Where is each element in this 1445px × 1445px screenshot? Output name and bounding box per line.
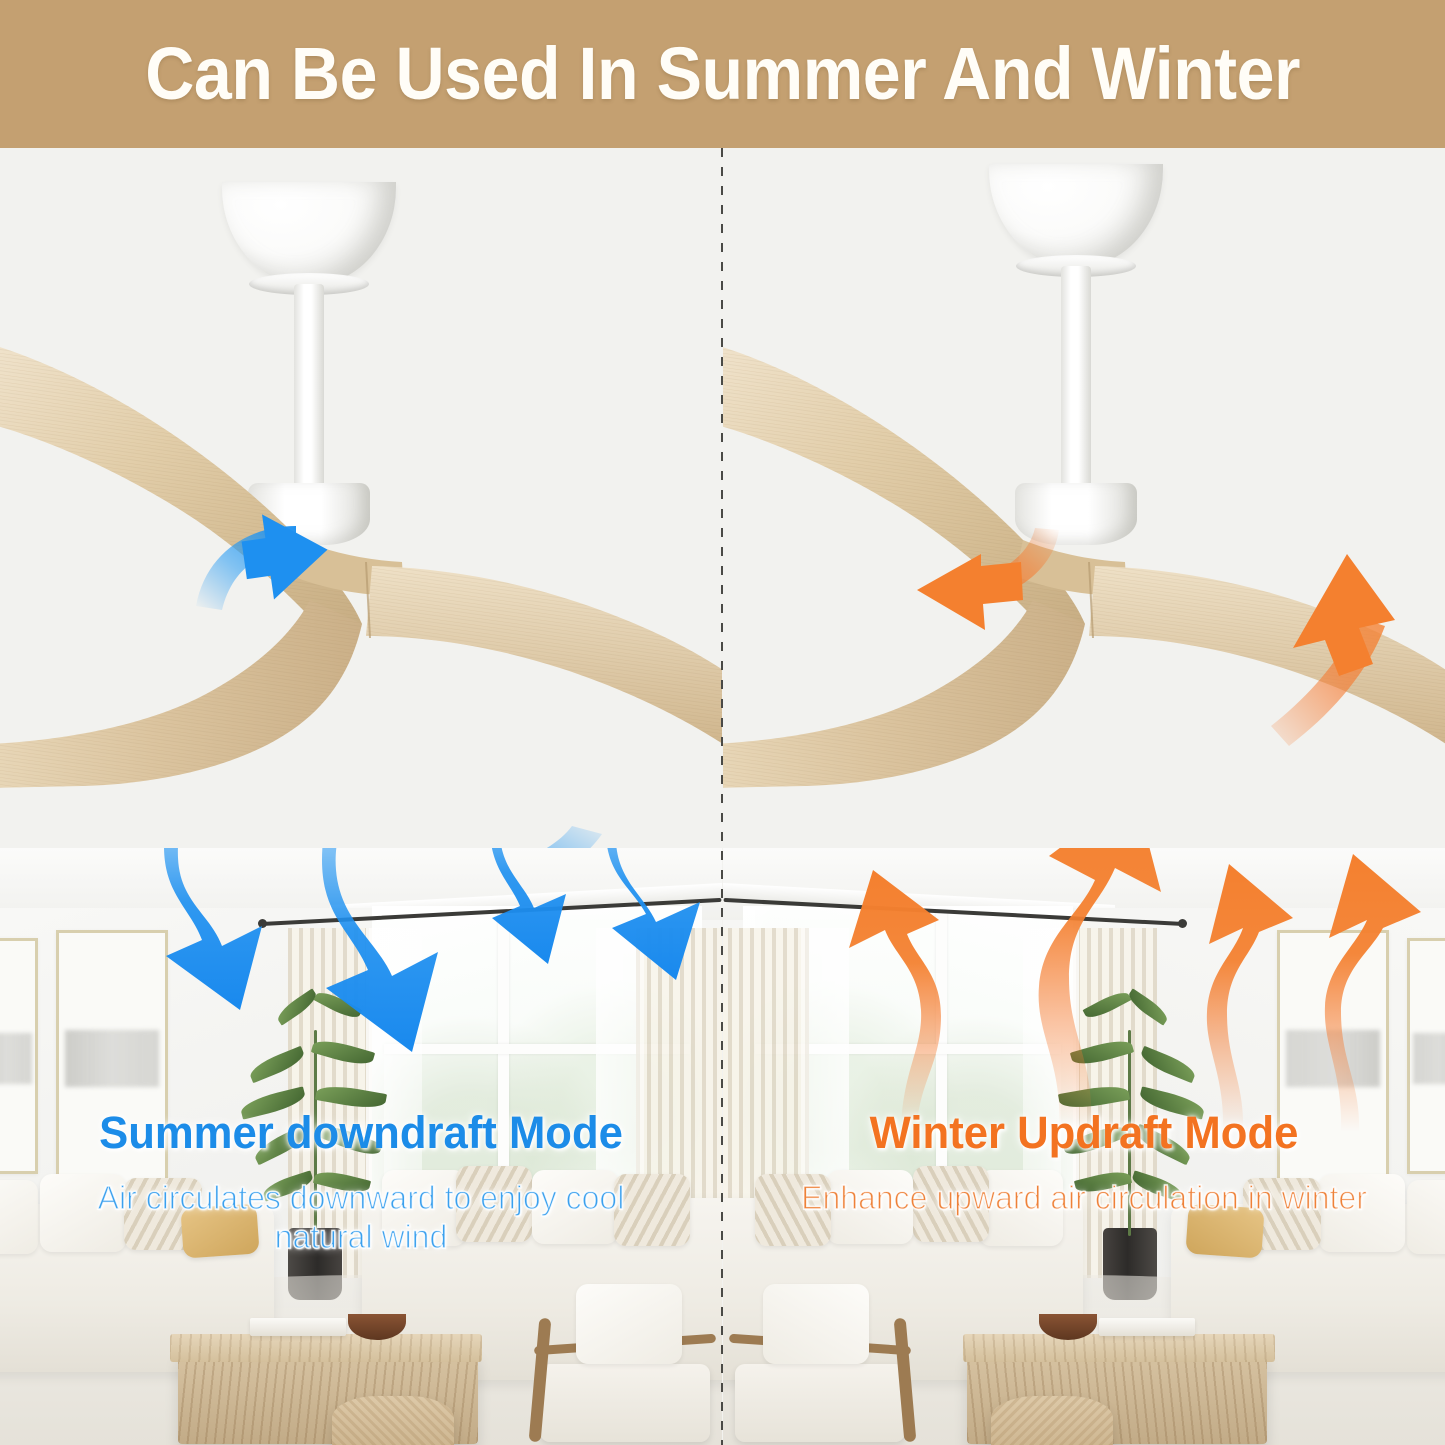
ottoman-pouf [991,1396,1113,1445]
accent-chair-cushion [763,1284,869,1364]
coffee-table-top [963,1334,1275,1362]
living-room-winter: Winter Updraft Mode Enhance upward air c… [723,848,1445,1445]
caption-title-summer: Summer downdraft Mode [11,1110,711,1155]
caption-subtitle-summer: Air circulates downward to enjoy cool na… [11,1179,711,1257]
panel-winter: Winter Updraft Mode Enhance upward air c… [723,148,1445,1445]
caption-block-winter: Winter Updraft Mode Enhance upward air c… [723,1110,1445,1218]
table-books [250,1318,346,1336]
accent-chair-seat [540,1364,710,1442]
fan-blades-winter [723,148,1445,848]
fan-scene-summer [0,148,722,848]
panel-divider [721,148,723,1445]
curtain-rod-finial [1178,919,1187,928]
page-title: Can Be Used In Summer And Winter [145,37,1300,111]
fan-scene-winter [723,148,1445,848]
header-banner: Can Be Used In Summer And Winter [0,0,1445,148]
caption-block-summer: Summer downdraft Mode Air circulates dow… [0,1110,722,1257]
accent-chair-seat [735,1364,905,1442]
coffee-table-top [170,1334,482,1362]
ottoman-pouf [332,1396,454,1445]
table-books [1099,1318,1195,1336]
accent-chair-cushion [576,1284,682,1364]
curtain-rod-finial [258,919,267,928]
product-infographic: Can Be Used In Summer And Winter [0,0,1445,1445]
fan-blades-summer [0,148,722,848]
caption-title-winter: Winter Updraft Mode [734,1110,1434,1155]
panel-summer: Summer downdraft Mode Air circulates dow… [0,148,722,1445]
caption-subtitle-winter: Enhance upward air circulation in winter [734,1179,1434,1218]
living-room-summer: Summer downdraft Mode Air circulates dow… [0,848,722,1445]
